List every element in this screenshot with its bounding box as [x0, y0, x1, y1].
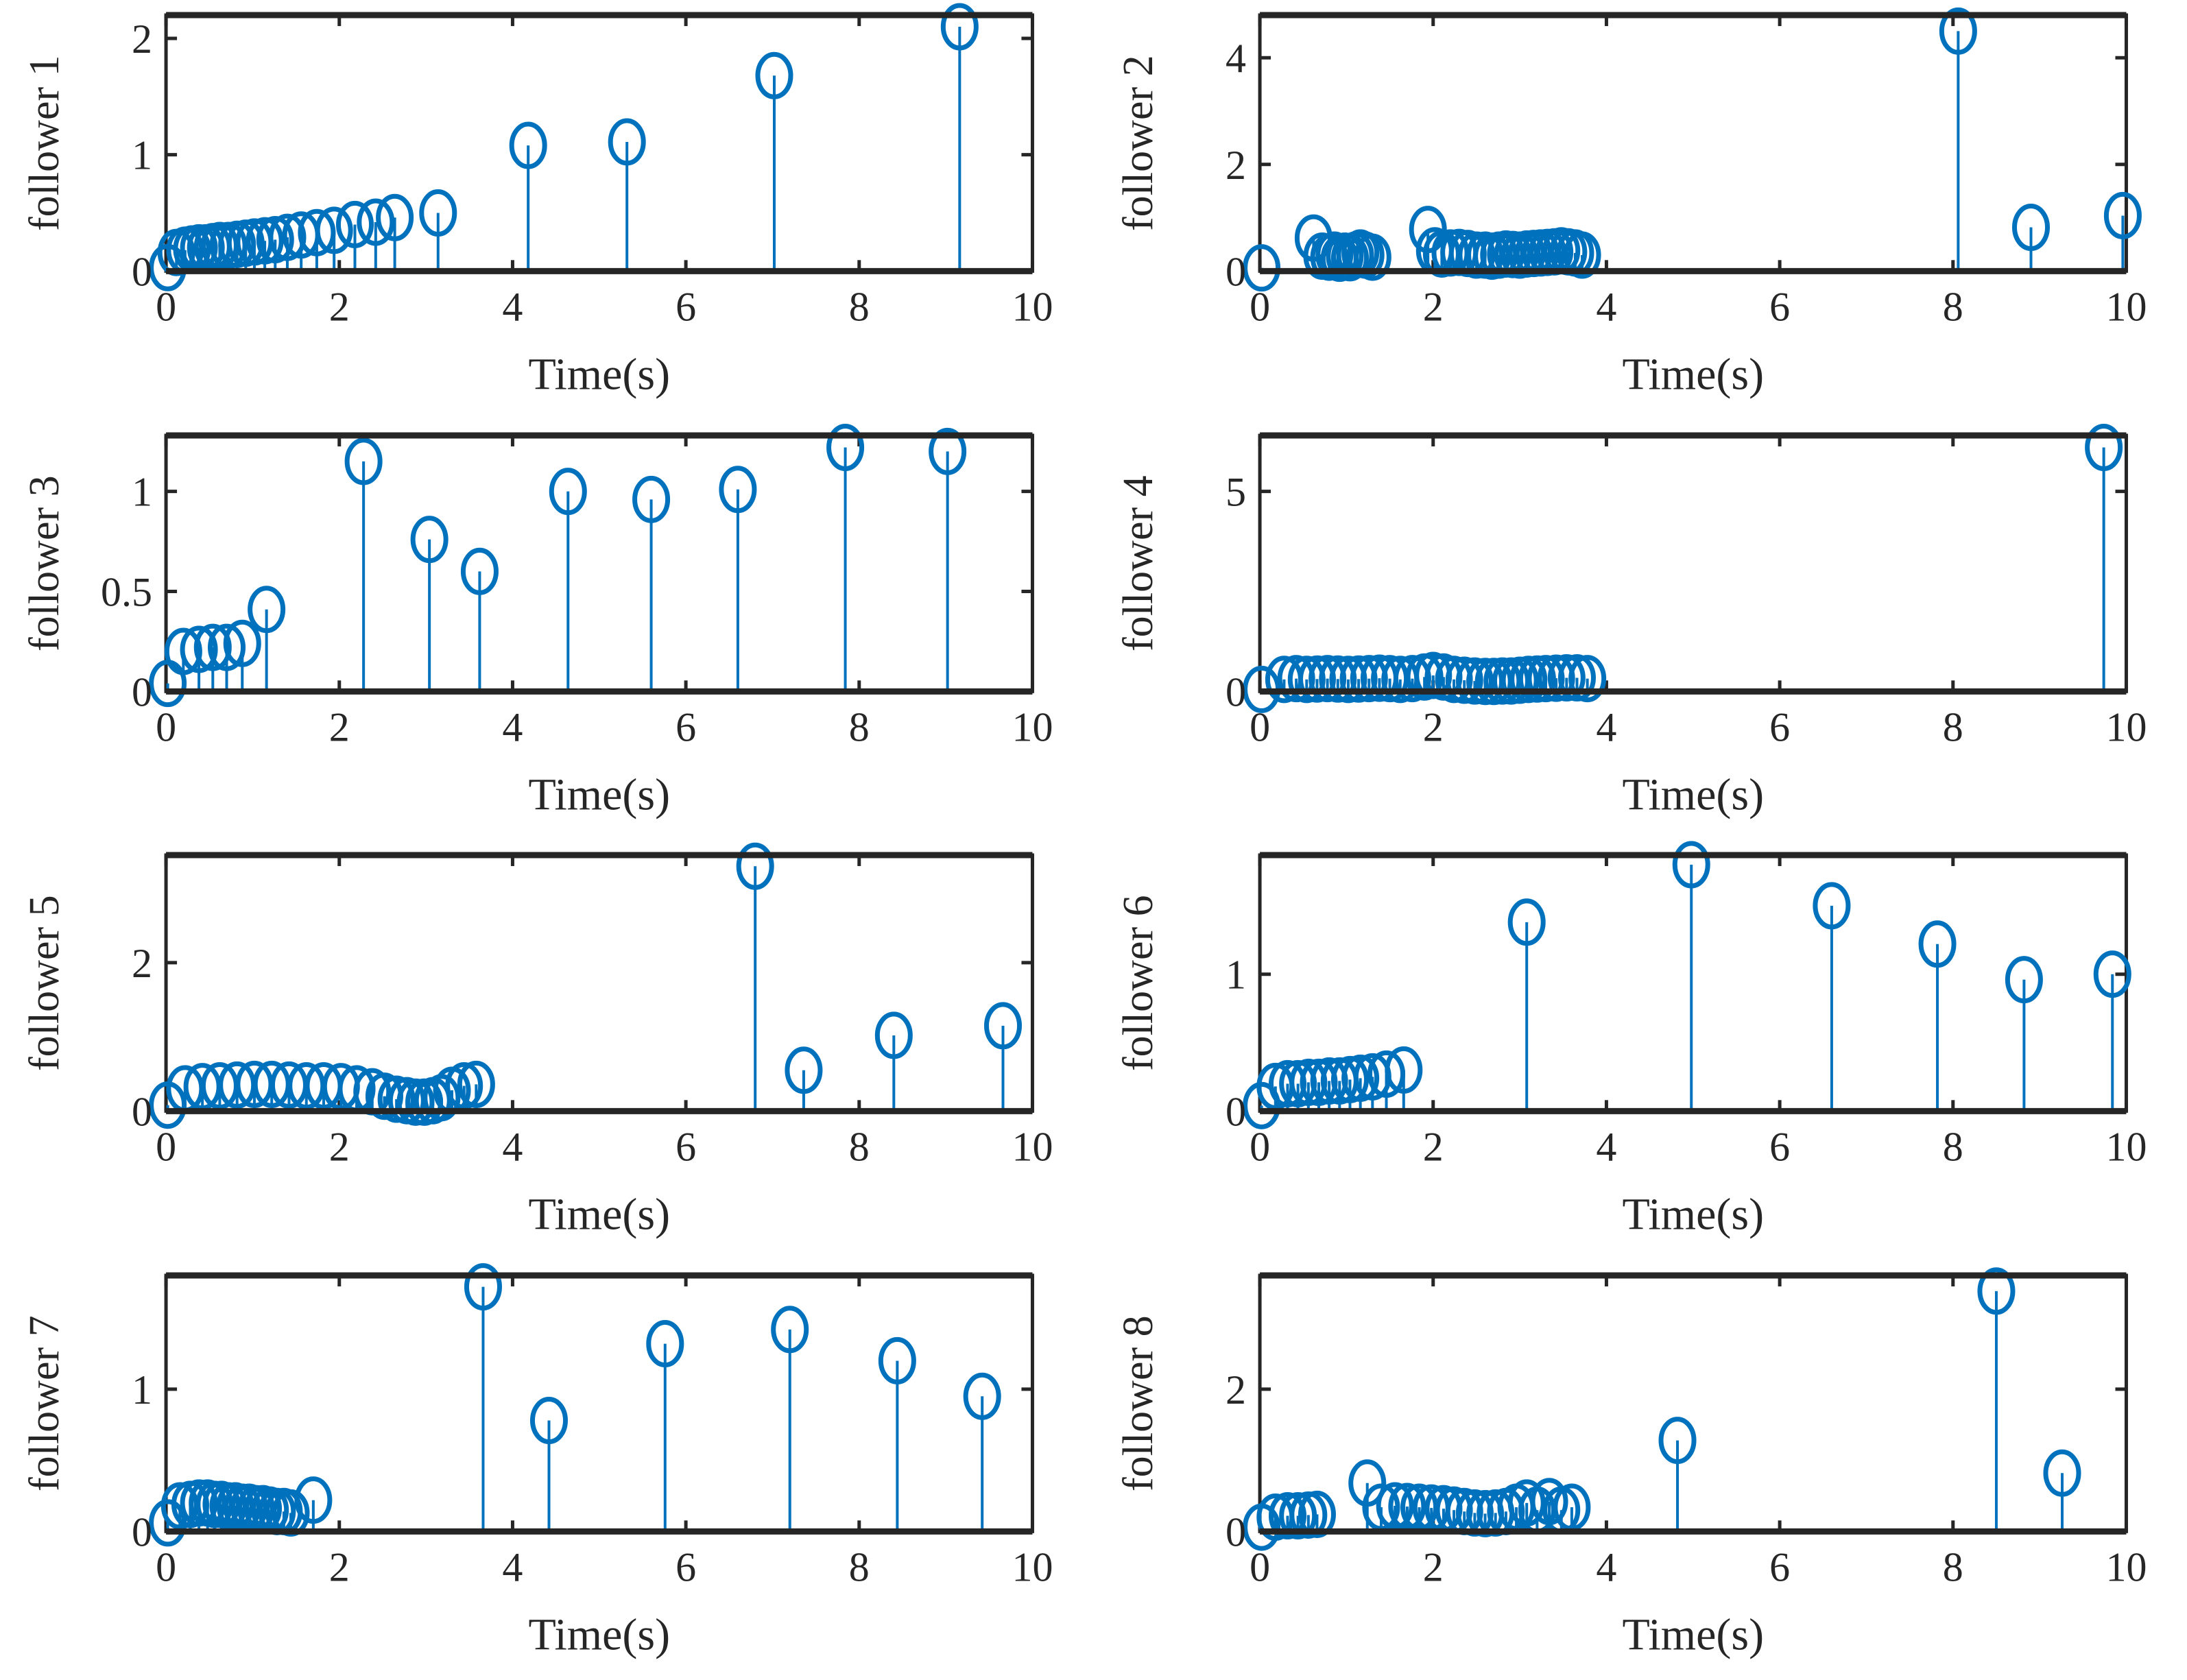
x-tick-label: 6 [1769, 284, 1790, 329]
x-tick-label: 4 [502, 284, 523, 329]
y-tick-label: 2 [132, 16, 152, 62]
y-tick-label: 1 [132, 133, 152, 178]
y-tick-label: 2 [1226, 143, 1246, 188]
x-tick-label: 2 [1422, 704, 1443, 749]
subplot-follower-5: 024681002follower 5Time(s) [0, 840, 1094, 1260]
stem-series [1245, 10, 2139, 289]
y-tick-label: 0 [1226, 1509, 1246, 1555]
x-tick-label: 6 [1769, 1544, 1790, 1589]
chart-follower-2: 0246810024follower 2Time(s) [1094, 0, 2187, 420]
y-tick-label: 1 [132, 469, 152, 514]
x-axis-label: Time(s) [528, 349, 670, 399]
x-tick-label: 0 [156, 1124, 176, 1169]
y-tick-label: 0 [1226, 249, 1246, 294]
plot-box [166, 15, 1032, 271]
x-tick-label: 0 [1250, 284, 1270, 329]
chart-follower-3: 024681000.51follower 3Time(s) [0, 420, 1094, 841]
x-tick-label: 10 [1012, 704, 1053, 749]
x-tick-label: 4 [1596, 704, 1616, 749]
chart-follower-5: 024681002follower 5Time(s) [0, 840, 1094, 1260]
x-tick-label: 8 [1942, 1124, 1963, 1169]
stem-series [152, 5, 977, 289]
stem-series [1245, 843, 2129, 1127]
chart-follower-6: 024681001follower 6Time(s) [1094, 840, 2187, 1260]
x-tick-label: 6 [676, 1124, 696, 1169]
subplot-follower-6: 024681001follower 6Time(s) [1094, 840, 2187, 1260]
x-tick-label: 0 [1250, 1544, 1270, 1589]
x-tick-label: 0 [1250, 704, 1270, 749]
subplot-follower-2: 0246810024follower 2Time(s) [1094, 0, 2187, 420]
x-tick-label: 2 [329, 704, 350, 749]
chart-follower-4: 024681005follower 4Time(s) [1094, 420, 2187, 841]
x-tick-label: 0 [156, 1544, 176, 1589]
y-axis-label: follower 6 [1115, 895, 1162, 1071]
stem-series [152, 426, 964, 704]
x-tick-label: 8 [1942, 1544, 1963, 1589]
x-tick-label: 2 [329, 1544, 350, 1589]
x-tick-label: 8 [1942, 704, 1963, 749]
x-tick-label: 8 [1942, 284, 1963, 329]
chart-follower-7: 024681001follower 7Time(s) [0, 1260, 1094, 1680]
x-tick-label: 4 [502, 704, 523, 749]
chart-follower-1: 0246810012follower 1Time(s) [0, 0, 1094, 420]
x-tick-label: 4 [1596, 1124, 1616, 1169]
subplot-follower-7: 024681001follower 7Time(s) [0, 1260, 1094, 1680]
x-tick-label: 0 [156, 284, 176, 329]
stem-plot-figure: 0246810012follower 1Time(s) 0246810024fo… [0, 0, 2187, 1680]
x-tick-label: 2 [1422, 1544, 1443, 1589]
x-tick-label: 6 [1769, 704, 1790, 749]
x-tick-label: 0 [1250, 1124, 1270, 1169]
subplot-grid: 0246810012follower 1Time(s) 0246810024fo… [0, 0, 2187, 1680]
x-tick-label: 4 [502, 1124, 523, 1169]
x-axis-label: Time(s) [1622, 349, 1764, 399]
x-tick-label: 10 [2105, 1124, 2147, 1169]
x-tick-label: 10 [2105, 284, 2147, 329]
y-axis-label: follower 5 [21, 895, 68, 1071]
y-tick-label: 0 [1226, 669, 1246, 715]
x-axis-label: Time(s) [528, 1609, 670, 1659]
subplot-follower-4: 024681005follower 4Time(s) [1094, 420, 2187, 841]
y-tick-label: 2 [132, 941, 152, 986]
x-tick-label: 6 [676, 704, 696, 749]
x-axis-label: Time(s) [1622, 769, 1764, 819]
y-axis-label: follower 1 [21, 55, 68, 231]
x-tick-label: 10 [1012, 1124, 1053, 1169]
y-axis-label: follower 2 [1115, 55, 1162, 231]
x-tick-label: 4 [1596, 284, 1616, 329]
y-tick-label: 1 [132, 1367, 152, 1412]
subplot-follower-8: 024681002follower 8Time(s) [1094, 1260, 2187, 1680]
plot-box [166, 435, 1032, 691]
y-axis-label: follower 7 [21, 1315, 68, 1491]
x-tick-label: 10 [1012, 284, 1053, 329]
x-tick-label: 8 [849, 1124, 870, 1169]
x-tick-label: 8 [849, 1544, 870, 1589]
y-tick-label: 5 [1226, 469, 1246, 514]
stem-series [1245, 1269, 2078, 1548]
y-axis-label: follower 8 [1115, 1315, 1162, 1491]
y-tick-label: 0 [1226, 1089, 1246, 1134]
y-tick-label: 0 [132, 1089, 152, 1134]
plot-box [1260, 435, 2126, 691]
x-tick-label: 0 [156, 704, 176, 749]
y-tick-label: 2 [1226, 1367, 1246, 1412]
y-axis-label: follower 4 [1115, 475, 1162, 651]
x-tick-label: 6 [1769, 1124, 1790, 1169]
x-tick-label: 2 [1422, 1124, 1443, 1169]
stem-series [1245, 426, 2120, 710]
x-tick-label: 4 [502, 1544, 523, 1589]
y-tick-label: 0 [132, 1509, 152, 1555]
y-tick-label: 0.5 [101, 569, 152, 614]
x-tick-label: 2 [329, 284, 350, 329]
x-tick-label: 10 [2105, 1544, 2147, 1589]
x-axis-label: Time(s) [528, 769, 670, 819]
subplot-follower-3: 024681000.51follower 3Time(s) [0, 420, 1094, 841]
data-point-marker [152, 662, 184, 704]
y-tick-label: 0 [132, 669, 152, 715]
chart-follower-8: 024681002follower 8Time(s) [1094, 1260, 2187, 1680]
y-tick-label: 4 [1226, 36, 1246, 81]
stem-series [152, 1265, 999, 1544]
x-axis-label: Time(s) [528, 1189, 670, 1239]
x-tick-label: 4 [1596, 1544, 1616, 1589]
x-tick-label: 2 [1422, 284, 1443, 329]
x-tick-label: 6 [676, 1544, 696, 1589]
x-tick-label: 10 [1012, 1544, 1053, 1589]
plot-box [1260, 15, 2126, 271]
stem-series [152, 845, 1020, 1126]
x-tick-label: 8 [849, 704, 870, 749]
subplot-follower-1: 0246810012follower 1Time(s) [0, 0, 1094, 420]
x-axis-label: Time(s) [1622, 1609, 1764, 1659]
x-tick-label: 10 [2105, 704, 2147, 749]
x-tick-label: 2 [329, 1124, 350, 1169]
x-tick-label: 6 [676, 284, 696, 329]
x-axis-label: Time(s) [1622, 1189, 1764, 1239]
y-tick-label: 1 [1226, 952, 1246, 998]
y-axis-label: follower 3 [21, 475, 68, 651]
x-tick-label: 8 [849, 284, 870, 329]
y-tick-label: 0 [132, 249, 152, 294]
